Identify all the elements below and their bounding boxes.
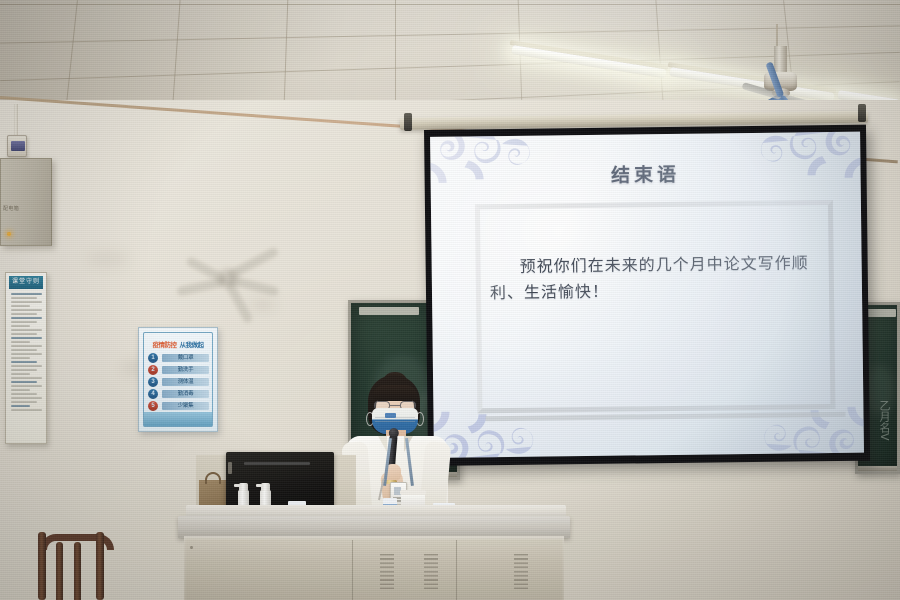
chair-post-left <box>38 532 46 600</box>
bag-handle <box>205 472 221 484</box>
poster-covid-bullet: 4 <box>148 389 158 399</box>
wooden-chair <box>34 528 120 600</box>
poster-covid-row-text: 勤消毒 <box>162 390 209 398</box>
cabinet-lock[interactable] <box>190 546 193 549</box>
slide: 结束语 预祝你们在未来的几个月中论文写作顺利、生活愉快！ <box>430 132 864 458</box>
poster-covid-title-left: 疫情防控 <box>153 339 177 349</box>
monitor-hinge <box>228 462 232 474</box>
poster-rules-heading: 课堂守则 <box>9 276 43 289</box>
pump-nozzle <box>234 484 240 487</box>
poster-covid-row: 2 勤洗手 <box>148 364 209 375</box>
chair-post-right <box>96 532 104 600</box>
pump-head <box>239 483 248 491</box>
wall-stain <box>250 300 276 310</box>
poster-classroom-rules: 课堂守则 <box>5 272 47 444</box>
slide-decorative-frame <box>475 200 836 413</box>
collar-left <box>378 436 387 452</box>
screen-bracket-right <box>858 104 866 122</box>
cabinet-vent <box>514 554 528 592</box>
projection-screen[interactable]: 结束语 预祝你们在未来的几个月中论文写作顺利、生活愉快！ <box>424 125 870 466</box>
cabinet-seam <box>352 540 353 600</box>
classroom-photo: 配电箱 课堂守则 疫情防控 从我做起 1 戴口罩 2 <box>0 0 900 600</box>
panel-label: 配电箱 <box>3 205 19 212</box>
pump-head <box>261 483 270 491</box>
poster-rules-body <box>9 289 43 415</box>
poster-covid-row-text: 测体温 <box>162 378 209 386</box>
poster-covid-footer <box>144 412 212 426</box>
poster-covid-bullet: 5 <box>148 401 158 411</box>
monitor-bezel-strip <box>244 462 310 465</box>
blackboard-chalk-note: 乙月名V <box>867 400 891 441</box>
poster-covid-row-text: 勤洗手 <box>162 366 209 374</box>
board-paper-strip <box>866 309 896 317</box>
electrical-conduit <box>14 104 18 138</box>
poster-covid-title: 疫情防控 从我做起 <box>147 339 209 348</box>
poster-covid-bullet: 3 <box>148 377 158 387</box>
wall-switch[interactable] <box>7 135 27 157</box>
poster-covid-prevention: 疫情防控 从我做起 1 戴口罩 2 勤洗手 3 测体温 4 勤消毒 5 少聚集 … <box>138 327 218 432</box>
chair-slat <box>56 542 63 600</box>
cabinet-vent <box>380 554 394 592</box>
screen-bracket-left <box>404 113 412 131</box>
poster-covid-row: 1 戴口罩 <box>148 352 209 363</box>
wall-stain <box>86 250 130 268</box>
board-paper-strip <box>359 307 419 315</box>
panel-status-led <box>7 232 11 236</box>
poster-covid-row: 5 少聚集 <box>148 400 209 411</box>
container-lid <box>400 490 426 495</box>
lectern-body <box>184 536 564 600</box>
electrical-panel[interactable]: 配电箱 <box>0 158 52 246</box>
cabinet-seam <box>456 540 457 600</box>
poster-covid-row: 4 勤消毒 <box>148 388 209 399</box>
lectern-top <box>178 516 570 538</box>
pump-nozzle <box>256 484 262 487</box>
chalk-tray <box>858 466 897 471</box>
mask-print <box>385 413 396 418</box>
poster-covid-title-right: 从我做起 <box>180 339 204 349</box>
slide-title: 结束语 <box>430 158 860 190</box>
hair-fringe <box>373 385 417 401</box>
cabinet-vent <box>424 554 438 592</box>
slide-body-text: 预祝你们在未来的几个月中论文写作顺利、生活愉快！ <box>490 250 817 306</box>
poster-covid-row-text: 少聚集 <box>162 402 209 410</box>
chair-slat <box>74 542 81 600</box>
poster-covid-row: 3 测体温 <box>148 376 209 387</box>
poster-covid-bullet: 1 <box>148 353 158 363</box>
poster-covid-row-text: 戴口罩 <box>162 354 209 362</box>
poster-covid-bullet: 2 <box>148 365 158 375</box>
switch-face <box>11 141 25 151</box>
